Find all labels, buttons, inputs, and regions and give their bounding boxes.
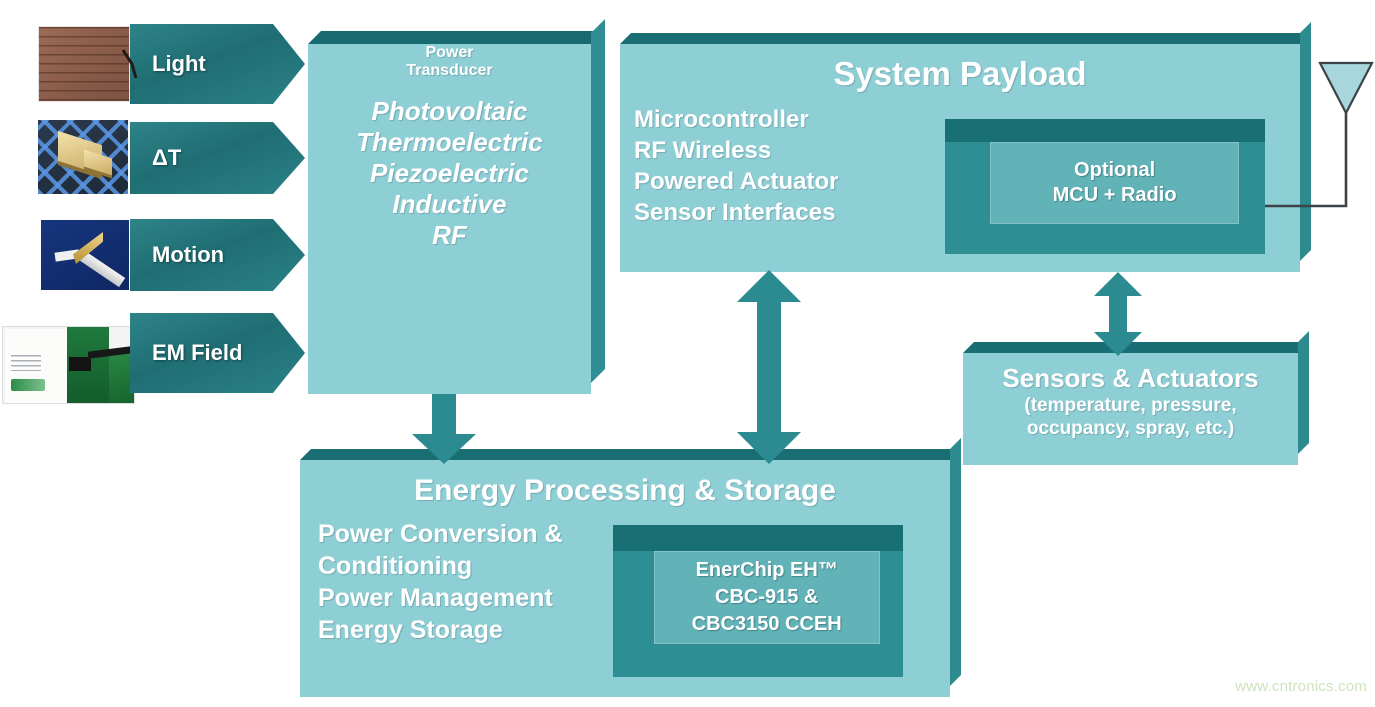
block-bevel-right: [950, 438, 961, 686]
inner-box-label: Optional MCU + Radio: [990, 142, 1240, 224]
power-transducer-item: Inductive: [308, 189, 591, 220]
watermark: www.cntronics.com: [1235, 678, 1367, 695]
rf-board-text-lines: [11, 355, 41, 371]
block-bevel-right: [1298, 331, 1309, 454]
sensors-actuators-subtitle: (temperature, pressure, occupancy, spray…: [963, 393, 1298, 440]
system-payload-item-list: Microcontroller RF Wireless Powered Actu…: [634, 104, 838, 228]
inner-box-top-shade: [613, 525, 903, 551]
light-lead-wire: [122, 48, 144, 82]
block-bevel-top: [300, 449, 961, 460]
arrow-payload-to-energy: [729, 270, 809, 464]
block-bevel-top: [620, 33, 1311, 44]
system-payload-item: Microcontroller: [634, 104, 838, 135]
energy-processing-item: Power Conversion &: [318, 518, 618, 550]
energy-processing-item-list: Power Conversion & Conditioning Power Ma…: [318, 518, 618, 646]
input-tab-delta-t[interactable]: ΔT: [130, 122, 305, 194]
sensors-actuators-sub-line1: (temperature, pressure,: [969, 394, 1292, 417]
input-tab-em-field[interactable]: EM Field: [130, 313, 305, 393]
energy-processing-item: Energy Storage: [318, 614, 618, 646]
optional-mcu-line1: Optional: [1074, 158, 1155, 183]
power-transducer-item: Photovoltaic: [308, 96, 591, 127]
system-payload-item: Powered Actuator: [634, 166, 838, 197]
rf-board-logo: [11, 379, 45, 391]
thumbnail-solar-cell: [38, 26, 130, 102]
inner-box-top-shade: [945, 119, 1265, 142]
enerchip-line2: CBC-915 &: [715, 584, 818, 611]
power-transducer-title-line1: Power: [308, 44, 591, 62]
energy-processing-item: Conditioning: [318, 550, 618, 582]
system-payload-item: Sensor Interfaces: [634, 197, 838, 228]
energy-processing-item: Power Management: [318, 582, 618, 614]
enerchip-line1: EnerChip EH™: [696, 557, 838, 584]
power-transducer-item: Piezoelectric: [308, 158, 591, 189]
inner-box-enerchip[interactable]: EnerChip EH™ CBC-915 & CBC3150 CCEH: [613, 525, 903, 677]
thumbnail-piezo-cantilever: [41, 220, 129, 290]
power-transducer-title-line2: Transducer: [308, 62, 591, 80]
arrow-payload-to-sensors: [1088, 272, 1148, 356]
energy-processing-title: Energy Processing & Storage: [300, 460, 950, 508]
thumbnail-thermoelectric: [38, 120, 128, 194]
diagram-canvas: Light ΔT Motion EM Field: [0, 0, 1375, 707]
power-transducer-item: Thermoelectric: [308, 127, 591, 158]
block-sensors-actuators[interactable]: Sensors & Actuators (temperature, pressu…: [963, 353, 1298, 465]
input-tab-label: Light: [152, 51, 206, 77]
system-payload-item: RF Wireless: [634, 135, 838, 166]
block-bevel-top: [308, 31, 604, 44]
block-power-transducer[interactable]: Power Transducer Photovoltaic Thermoelec…: [308, 44, 591, 394]
power-transducer-item: RF: [308, 220, 591, 251]
power-transducer-item-list: Photovoltaic Thermoelectric Piezoelectri…: [308, 96, 591, 251]
block-energy-processing-storage[interactable]: Energy Processing & Storage Power Conver…: [300, 460, 950, 697]
input-tab-label: ΔT: [152, 145, 181, 171]
system-payload-title: System Payload: [620, 44, 1300, 92]
power-transducer-title: Power Transducer: [308, 44, 591, 80]
input-tab-light[interactable]: Light: [130, 24, 305, 104]
inner-box-label: EnerChip EH™ CBC-915 & CBC3150 CCEH: [654, 551, 880, 644]
enerchip-line3: CBC3150 CCEH: [692, 611, 842, 638]
inner-box-optional-mcu-radio[interactable]: Optional MCU + Radio: [945, 119, 1265, 254]
input-tab-label: EM Field: [152, 340, 242, 366]
input-tab-motion[interactable]: Motion: [130, 219, 305, 291]
block-system-payload[interactable]: System Payload Microcontroller RF Wirele…: [620, 44, 1300, 272]
input-tab-label: Motion: [152, 242, 224, 268]
arrow-transducer-to-energy: [404, 394, 484, 466]
optional-mcu-line2: MCU + Radio: [1053, 183, 1177, 208]
block-bevel-right: [591, 19, 605, 383]
sensors-actuators-title: Sensors & Actuators: [963, 353, 1298, 393]
sensors-actuators-sub-line2: occupancy, spray, etc.): [969, 417, 1292, 440]
